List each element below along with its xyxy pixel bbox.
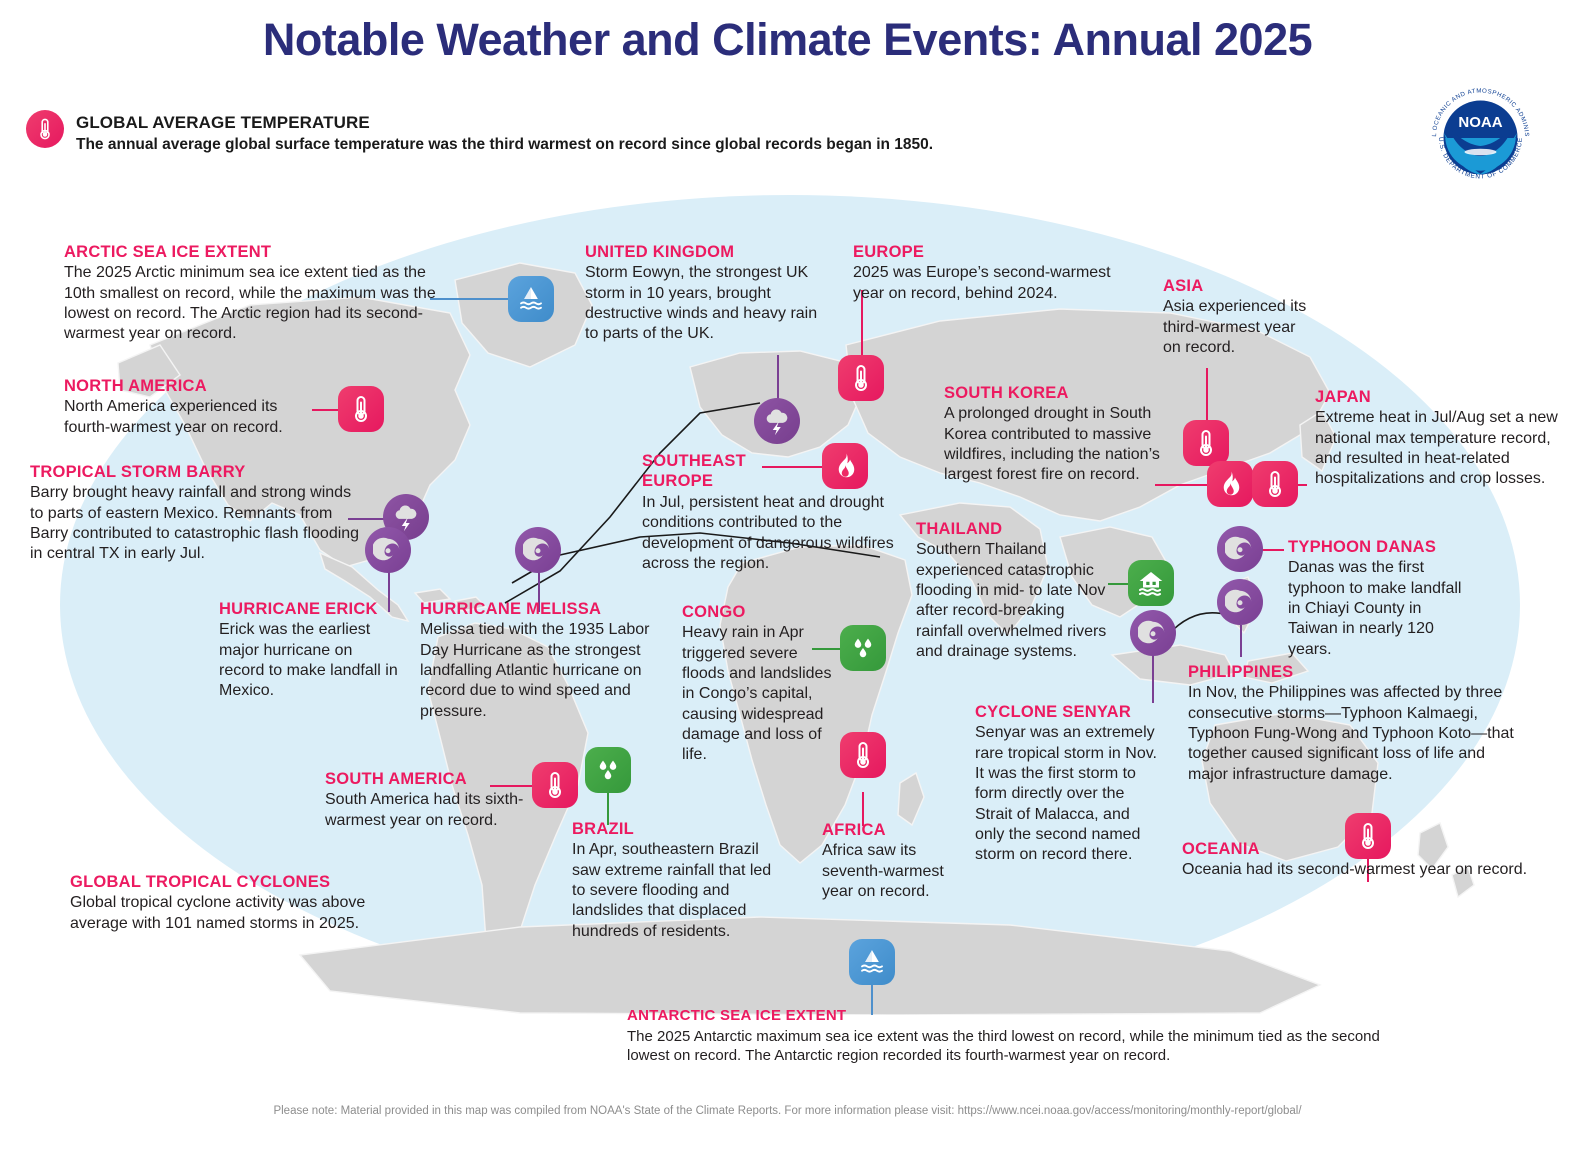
callout-body: Melissa tied with the 1935 Labor Day Hur…: [420, 620, 666, 722]
callout-body: Oceania had its second-warmest year on r…: [1182, 860, 1575, 880]
thunderstorm-icon[interactable]: [754, 398, 800, 444]
callout-title: ARCTIC SEA ICE EXTENT: [64, 243, 454, 261]
callout-africa: AFRICA Africa saw its seventh-warmest ye…: [822, 821, 962, 902]
cyclone-icon[interactable]: [515, 527, 561, 573]
page-title: Notable Weather and Climate Events: Annu…: [0, 14, 1575, 66]
leader-line-typhoon-danas: [1262, 549, 1284, 551]
fire-icon[interactable]: [1207, 461, 1253, 507]
raindrops-icon[interactable]: [840, 625, 886, 671]
callout-japan: JAPAN Extreme heat in Jul/Aug set a new …: [1315, 388, 1565, 490]
callout-title: AFRICA: [822, 821, 962, 839]
callout-europe: EUROPE 2025 was Europe’s second-warmest …: [853, 243, 1133, 304]
thermometer-icon[interactable]: [838, 355, 884, 401]
flooded-house-icon[interactable]: [1128, 560, 1174, 606]
callout-body: North America experienced its fourth-war…: [64, 397, 314, 438]
callout-body: In Nov, the Philippines was affected by …: [1188, 683, 1518, 785]
callout-body: Extreme heat in Jul/Aug set a new nation…: [1315, 408, 1565, 489]
callout-body: Storm Eowyn, the strongest UK storm in 1…: [585, 263, 830, 344]
callout-title: CONGO: [682, 603, 832, 621]
thermometer-icon: [26, 110, 64, 148]
callout-title: SOUTH AMERICA: [325, 770, 565, 788]
callout-typhoon-danas: TYPHOON DANAS Danas was the first typhoo…: [1288, 538, 1473, 660]
leader-line-cyclone-senyar: [1152, 655, 1154, 703]
callout-philippines: PHILIPPINES In Nov, the Philippines was …: [1188, 663, 1518, 785]
callout-antarctic-sea-ice-extent: ANTARCTIC SEA ICE EXTENT The 2025 Antarc…: [627, 1008, 1387, 1065]
callout-body: 2025 was Europe’s second-warmest year on…: [853, 263, 1133, 304]
callout-title: CYCLONE SENYAR: [975, 703, 1160, 721]
callout-body: In Jul, persistent heat and drought cond…: [642, 493, 897, 574]
callout-body: Global tropical cyclone activity was abo…: [70, 893, 400, 934]
callout-southeast-europe: SOUTHEAST EUROPE In Jul, persistent heat…: [642, 452, 897, 574]
cyclone-icon[interactable]: [1130, 610, 1176, 656]
noaa-logo: NOAA NATIONAL OCEANIC AND ATMOSPHERIC AD…: [1418, 75, 1543, 200]
callout-title: THAILAND: [916, 520, 1116, 538]
iceberg-icon[interactable]: [508, 276, 554, 322]
callout-body: Heavy rain in Apr triggered severe flood…: [682, 623, 832, 765]
callout-brazil: BRAZIL In Apr, southeastern Brazil saw e…: [572, 820, 772, 942]
footer-note: Please note: Material provided in this m…: [0, 1105, 1575, 1117]
leader-line-asia: [1206, 368, 1208, 420]
callout-oceania: OCEANIA Oceania had its second-warmest y…: [1182, 840, 1575, 881]
callout-global-tropical-cyclones: GLOBAL TROPICAL CYCLONES Global tropical…: [70, 873, 400, 934]
thermometer-icon[interactable]: [338, 386, 384, 432]
callout-body: Southern Thailand experienced catastroph…: [916, 540, 1116, 662]
noaa-logo-acronym: NOAA: [1458, 114, 1502, 131]
callout-title-line2: EUROPE: [642, 472, 897, 490]
leader-line-philippines: [1240, 625, 1242, 657]
callout-title: ASIA: [1163, 277, 1313, 295]
callout-body: South America had its sixth-warmest year…: [325, 790, 565, 831]
callout-arctic-sea-ice-extent: ARCTIC SEA ICE EXTENT The 2025 Arctic mi…: [64, 243, 454, 345]
callout-hurricane-melissa: HURRICANE MELISSA Melissa tied with the …: [420, 600, 666, 722]
callout-united-kingdom: UNITED KINGDOM Storm Eowyn, the stronges…: [585, 243, 830, 345]
callout-south-korea: SOUTH KOREA A prolonged drought in South…: [944, 384, 1172, 486]
thermometer-icon[interactable]: [1183, 420, 1229, 466]
callout-hurricane-erick: HURRICANE ERICK Erick was the earliest m…: [219, 600, 399, 702]
cyclone-icon[interactable]: [1217, 579, 1263, 625]
banner-title: GLOBAL AVERAGE TEMPERATURE: [76, 112, 933, 133]
callout-title: EUROPE: [853, 243, 1133, 261]
callout-title: SOUTH KOREA: [944, 384, 1172, 402]
callout-body: Erick was the earliest major hurricane o…: [219, 620, 399, 701]
thermometer-icon[interactable]: [1252, 461, 1298, 507]
callout-body: In Apr, southeastern Brazil saw extreme …: [572, 840, 772, 942]
callout-body: A prolonged drought in South Korea contr…: [944, 404, 1172, 485]
callout-title: TROPICAL STORM BARRY: [30, 463, 366, 481]
callout-body: The 2025 Antarctic maximum sea ice exten…: [627, 1027, 1387, 1065]
cyclone-icon[interactable]: [365, 527, 411, 573]
raindrops-icon[interactable]: [585, 747, 631, 793]
thermometer-icon[interactable]: [840, 732, 886, 778]
callout-title: OCEANIA: [1182, 840, 1575, 858]
callout-title: ANTARCTIC SEA ICE EXTENT: [627, 1008, 1387, 1025]
callout-cyclone-senyar: CYCLONE SENYAR Senyar was an extremely r…: [975, 703, 1160, 866]
callout-body: Danas was the first typhoon to make land…: [1288, 558, 1473, 660]
callout-title: HURRICANE ERICK: [219, 600, 399, 618]
callout-tropical-storm-barry: TROPICAL STORM BARRY Barry brought heavy…: [30, 463, 366, 565]
callout-title: PHILIPPINES: [1188, 663, 1518, 681]
callout-title-line1: SOUTHEAST: [642, 452, 897, 470]
cyclone-icon[interactable]: [1217, 526, 1263, 572]
callout-north-america: NORTH AMERICA North America experienced …: [64, 377, 314, 438]
callout-title: UNITED KINGDOM: [585, 243, 830, 261]
callout-body: Africa saw its seventh-warmest year on r…: [822, 841, 962, 902]
iceberg-icon[interactable]: [849, 939, 895, 985]
global-average-temperature-banner: GLOBAL AVERAGE TEMPERATURE The annual av…: [26, 110, 1126, 155]
banner-text: The annual average global surface temper…: [76, 135, 933, 155]
callout-body: The 2025 Arctic minimum sea ice extent t…: [64, 263, 454, 344]
callout-title: HURRICANE MELISSA: [420, 600, 666, 618]
callout-title: JAPAN: [1315, 388, 1565, 406]
callout-title: TYPHOON DANAS: [1288, 538, 1473, 556]
callout-thailand: THAILAND Southern Thailand experienced c…: [916, 520, 1116, 662]
callout-congo: CONGO Heavy rain in Apr triggered severe…: [682, 603, 832, 766]
callout-title: GLOBAL TROPICAL CYCLONES: [70, 873, 400, 891]
callout-title: NORTH AMERICA: [64, 377, 314, 395]
callout-south-america: SOUTH AMERICA South America had its sixt…: [325, 770, 565, 831]
callout-asia: ASIA Asia experienced its third-warmest …: [1163, 277, 1313, 358]
callout-body: Asia experienced its third-warmest year …: [1163, 297, 1313, 358]
callout-body: Barry brought heavy rainfall and strong …: [30, 483, 366, 564]
callout-title: BRAZIL: [572, 820, 772, 838]
callout-body: Senyar was an extremely rare tropical st…: [975, 723, 1160, 865]
leader-line-uk: [777, 355, 779, 403]
